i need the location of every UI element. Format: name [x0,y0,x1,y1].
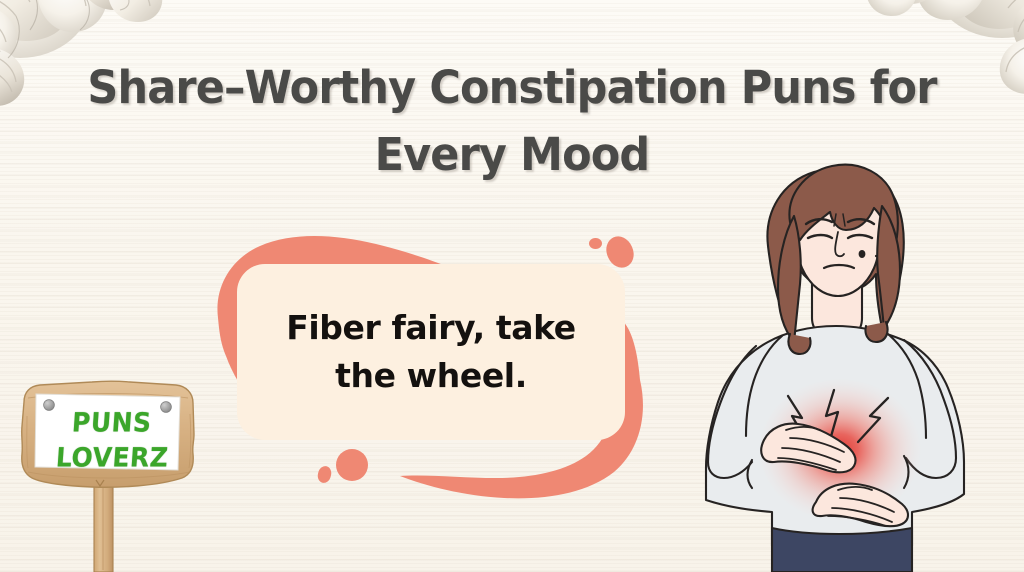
page-title-line-1: Share–Worthy Constipation Puns for [23,54,1001,121]
quote-line-2: the wheel. [335,356,527,395]
decor-dot-large-bottom-left [336,449,368,481]
woman-with-stomach-pain-illustration [690,150,1024,572]
poster-canvas: Share–Worthy Constipation Puns for Every… [0,0,1024,572]
page-title: Share–Worthy Constipation Puns for Every… [0,54,1024,188]
quote-text: Fiber fairy, take the wheel. [260,304,602,400]
quote-line-1: Fiber fairy, take [286,308,576,347]
decor-dot-small-top-right [589,238,602,249]
puns-loverz-sign [8,376,208,572]
page-title-line-2: Every Mood [23,121,1001,188]
quote-card: Fiber fairy, take the wheel. [237,264,625,440]
